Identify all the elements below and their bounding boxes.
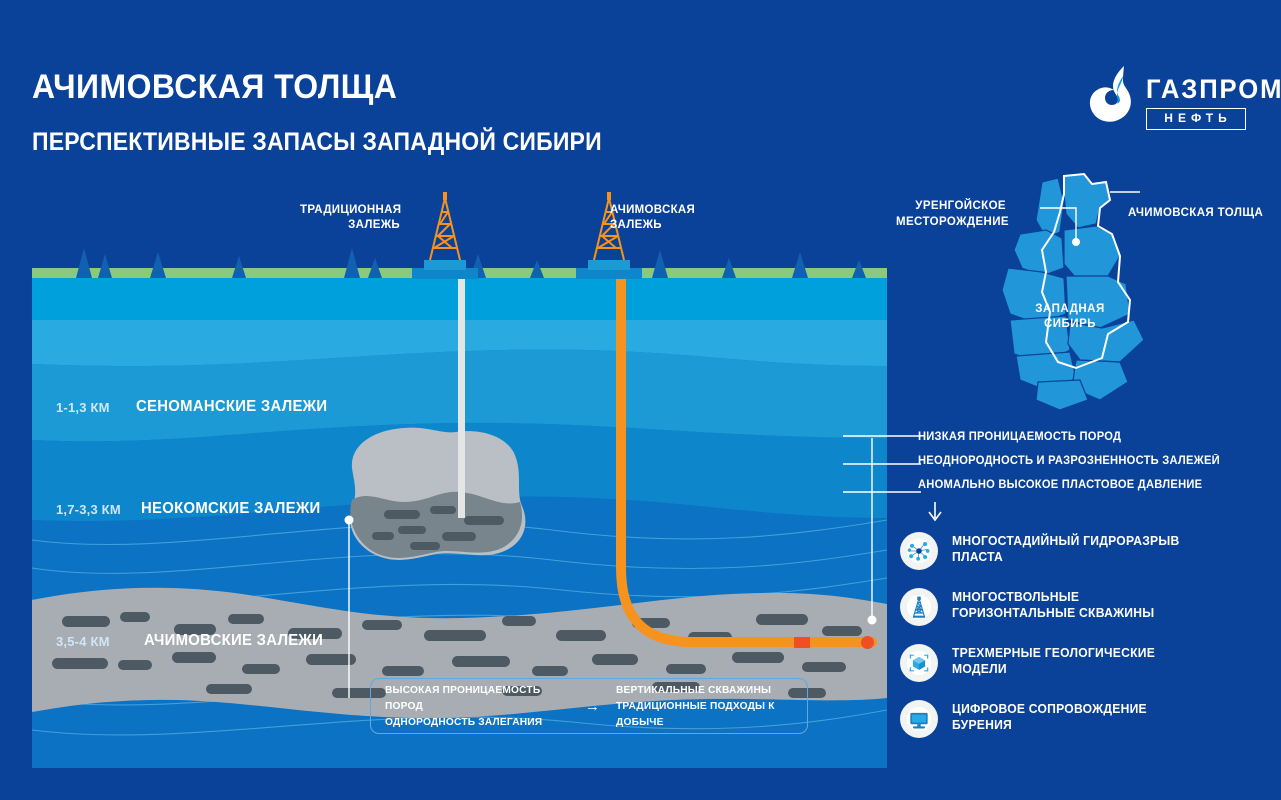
- traditional-rig-icon: [412, 192, 478, 279]
- solutions-list: МНОГОСТАДИЙНЫЙ ГИДРОРАЗРЫВ ПЛАСТА: [900, 530, 1260, 754]
- layer-depth-achimov: 3,5-4 КМ: [56, 634, 110, 649]
- callout-right-line2: ТРАДИЦИОННЫЕ ПОДХОДЫ К ДОБЫЧЕ: [616, 698, 788, 730]
- solution-text: МНОГОСТВОЛЬНЫЕ ГОРИЗОНТАЛЬНЫЕ СКВАЖИНЫ: [952, 586, 1154, 621]
- solution-line1: МНОГОСТАДИЙНЫЙ ГИДРОРАЗРЫВ: [952, 533, 1179, 549]
- solution-line2: ПЛАСТА: [952, 549, 1179, 565]
- page-subtitle: ПЕРСПЕКТИВНЫЕ ЗАПАСЫ ЗАПАДНОЙ СИБИРИ: [32, 128, 602, 157]
- logo-subbrand-box: НЕФТЬ: [1146, 108, 1246, 130]
- problems-list: НИЗКАЯ ПРОНИЦАЕМОСТЬ ПОРОД НЕОДНОРОДНОСТ…: [918, 425, 1258, 497]
- solution-line2: МОДЕЛИ: [952, 661, 1155, 677]
- traditional-well-path: [458, 268, 465, 518]
- callout-right-line1: ВЕРТИКАЛЬНЫЕ СКВАЖИНЫ: [616, 682, 788, 698]
- logo-subbrand: НЕФТЬ: [1147, 109, 1245, 128]
- page-title: АЧИМОВСКАЯ ТОЛЩА: [32, 68, 397, 107]
- solution-item: МНОГОСТАДИЙНЫЙ ГИДРОРАЗРЫВ ПЛАСТА: [900, 530, 1260, 576]
- frac-icon: [900, 532, 938, 570]
- solution-item: ЦИФРОВОЕ СОПРОВОЖДЕНИЕ БУРЕНИЯ: [900, 698, 1260, 744]
- solution-line1: МНОГОСТВОЛЬНЫЕ: [952, 589, 1154, 605]
- problem-item: НИЗКАЯ ПРОНИЦАЕМОСТЬ ПОРОД: [918, 425, 1248, 449]
- map-region-line1: ЗАПАДНАЯ: [1025, 302, 1115, 317]
- achimov-marker-dot: [868, 616, 877, 625]
- callout-right: ВЕРТИКАЛЬНЫЕ СКВАЖИНЫ ТРАДИЦИОННЫЕ ПОДХО…: [616, 682, 788, 730]
- rig-label-traditional: ТРАДИЦИОННАЯ ЗАЛЕЖЬ: [300, 203, 400, 233]
- gazprom-flame-icon: [1084, 62, 1140, 128]
- callout-left: ВЫСОКАЯ ПРОНИЦАЕМОСТЬ ПОРОД ОДНОРОДНОСТЬ…: [385, 682, 563, 730]
- brand-logo: ГАЗПРОМ НЕФТЬ: [1084, 60, 1249, 140]
- layer-name-neocom: НЕОКОМСКИЕ ЗАЛЕЖИ: [141, 500, 321, 518]
- map-regions: [1002, 174, 1144, 410]
- problem-item: НЕОДНОРОДНОСТЬ И РАЗРОЗНЕННОСТЬ ЗАЛЕЖЕЙ: [918, 449, 1248, 473]
- callout-left-line2: ОДНОРОДНОСТЬ ЗАЛЕГАНИЯ: [385, 714, 563, 730]
- map-region-name: ЗАПАДНАЯ СИБИРЬ: [1025, 302, 1115, 332]
- arrow-right-icon: →: [585, 699, 600, 714]
- solution-line1: ТРЕХМЕРНЫЕ ГЕОЛОГИЧЕСКИЕ: [952, 645, 1155, 661]
- arrow-down-icon: [925, 500, 945, 524]
- logo-wordmark: ГАЗПРОМ: [1146, 74, 1281, 105]
- solution-item: ТРЕХМЕРНЫЕ ГЕОЛОГИЧЕСКИЕ МОДЕЛИ: [900, 642, 1260, 688]
- solution-line2: ГОРИЗОНТАЛЬНЫЕ СКВАЖИНЫ: [952, 605, 1154, 621]
- map-label-achimov-tolshcha: АЧИМОВСКАЯ ТОЛЩА: [1128, 205, 1263, 221]
- cube-3d-icon: [900, 644, 938, 682]
- solution-text: ТРЕХМЕРНЫЕ ГЕОЛОГИЧЕСКИЕ МОДЕЛИ: [952, 642, 1155, 677]
- layer-name-achimov: АЧИМОВСКИЕ ЗАЛЕЖИ: [144, 632, 323, 650]
- map-label-urengoy-line1: УРЕНГОЙСКОЕ: [896, 198, 1006, 214]
- derrick-icon: [900, 588, 938, 626]
- callout-left-line1: ВЫСОКАЯ ПРОНИЦАЕМОСТЬ ПОРОД: [385, 682, 563, 714]
- solution-text: ЦИФРОВОЕ СОПРОВОЖДЕНИЕ БУРЕНИЯ: [952, 698, 1147, 733]
- conventional-marker-dot: [345, 516, 354, 525]
- map-label-urengoy-line2: МЕСТОРОЖДЕНИЕ: [896, 214, 1006, 230]
- map-region-line2: СИБИРЬ: [1025, 317, 1115, 332]
- layer-label-neocom: 1,7-3,3 КМ НЕОКОМСКИЕ ЗАЛЕЖИ: [56, 500, 328, 518]
- conventional-reservoir: [350, 428, 525, 560]
- solution-line2: БУРЕНИЯ: [952, 717, 1147, 733]
- solution-text: МНОГОСТАДИЙНЫЙ ГИДРОРАЗРЫВ ПЛАСТА: [952, 530, 1179, 565]
- infographic-root: АЧИМОВСКАЯ ТОЛЩА ПЕРСПЕКТИВНЫЕ ЗАПАСЫ ЗА…: [0, 0, 1281, 800]
- layer-label-achimov: 3,5-4 КМ АЧИМОВСКИЕ ЗАЛЕЖИ: [56, 632, 331, 650]
- map-label-urengoy: УРЕНГОЙСКОЕ МЕСТОРОЖДЕНИЕ: [896, 198, 1006, 230]
- surface-scene: [32, 190, 887, 280]
- solution-item: МНОГОСТВОЛЬНЫЕ ГОРИЗОНТАЛЬНЫЕ СКВАЖИНЫ: [900, 586, 1260, 632]
- layer-name-cenomanian: СЕНОМАНСКИЕ ЗАЛЕЖИ: [136, 398, 327, 416]
- layer-depth-cenomanian: 1-1,3 КМ: [56, 400, 110, 415]
- traditional-approach-callout: ВЫСОКАЯ ПРОНИЦАЕМОСТЬ ПОРОД ОДНОРОДНОСТЬ…: [370, 678, 808, 734]
- solution-line1: ЦИФРОВОЕ СОПРОВОЖДЕНИЕ: [952, 701, 1147, 717]
- layer-label-cenomanian: 1-1,3 КМ СЕНОМАНСКИЕ ЗАЛЕЖИ: [56, 398, 335, 416]
- problem-leader-lines: [843, 430, 923, 502]
- rig-label-achimov: АЧИМОВСКАЯ ЗАЛЕЖЬ: [610, 203, 720, 233]
- monitor-icon: [900, 700, 938, 738]
- layer-depth-neocom: 1,7-3,3 КМ: [56, 502, 121, 517]
- problem-item: АНОМАЛЬНО ВЫСОКОЕ ПЛАСТОВОЕ ДАВЛЕНИЕ: [918, 473, 1248, 497]
